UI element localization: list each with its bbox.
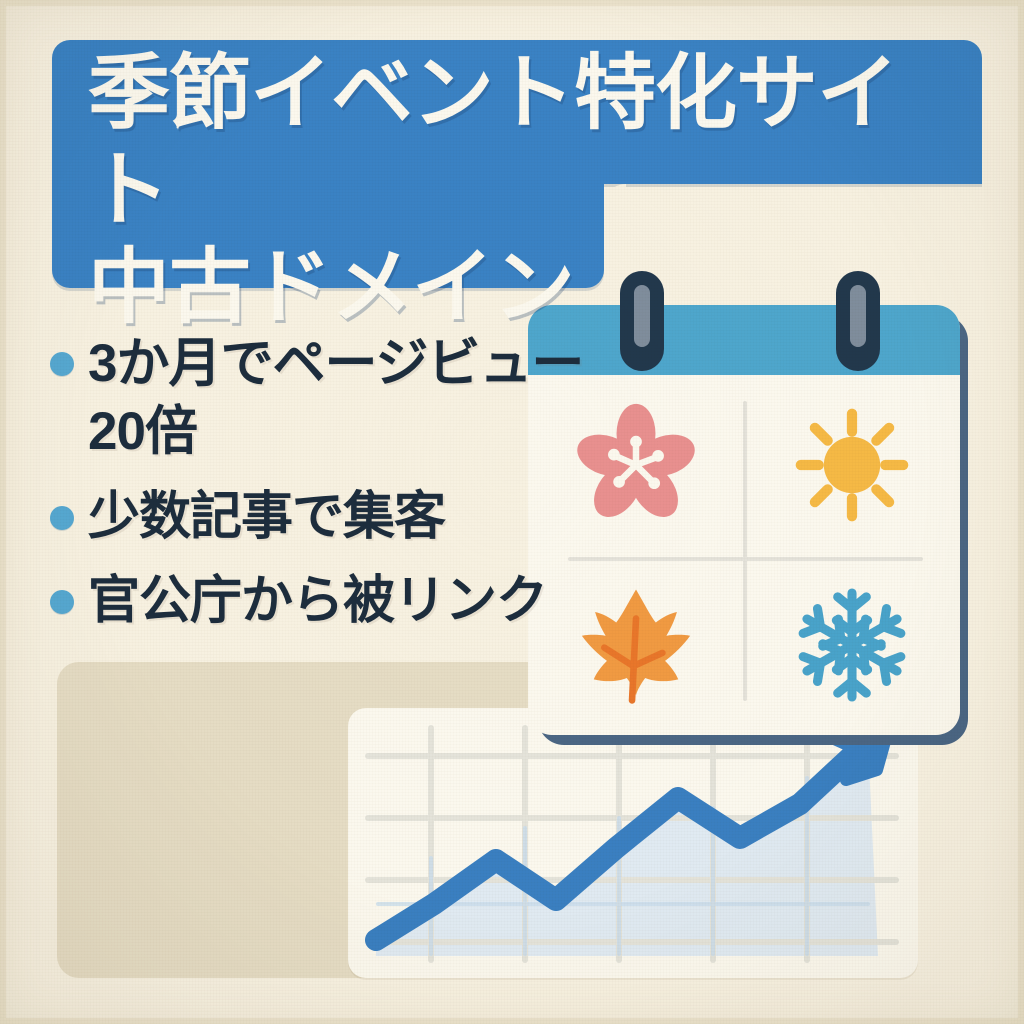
list-item: 少数記事で集客 (50, 484, 610, 551)
list-item: 官公庁から被リンク (50, 568, 610, 635)
title-banner: 季節イベント特化サイト 中古ドメイン (52, 40, 982, 288)
list-item-label: 官公庁から被リンク (88, 568, 547, 635)
snowflake-icon (787, 580, 917, 710)
calendar-cell-summer (744, 375, 960, 555)
calendar-cell-winter (744, 555, 960, 735)
bullet-dot-icon (50, 506, 74, 530)
list-item-label: 3か月でページビュー 20倍 (88, 330, 583, 466)
list-item: 3か月でページビュー 20倍 (50, 330, 610, 466)
bullet-dot-icon (50, 352, 74, 376)
list-item-label: 少数記事で集客 (88, 484, 445, 551)
growth-line-chart (348, 708, 918, 978)
poster-canvas: 季節イベント特化サイト 中古ドメイン 3か月でページビュー 20倍 少数記事で集… (0, 0, 1024, 1024)
growth-chart-card (348, 708, 918, 978)
bullet-dot-icon (50, 590, 74, 614)
benefit-list: 3か月でページビュー 20倍 少数記事で集客 官公庁から被リンク (50, 330, 610, 653)
sun-icon (788, 401, 916, 529)
page-title: 季節イベント特化サイト 中古ドメイン (88, 46, 978, 336)
